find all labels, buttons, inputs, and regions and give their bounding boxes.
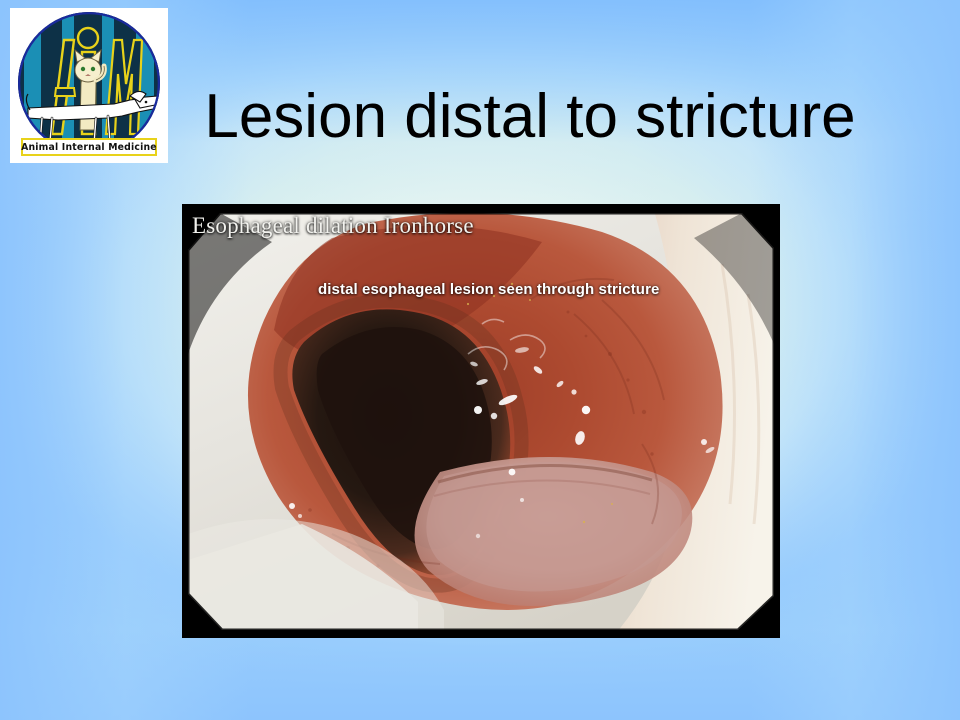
logo-banner-text: Animal Internal Medicine [21,142,157,153]
logo-artwork-icon [18,12,160,154]
page-title: Lesion distal to stricture [180,86,880,148]
endoscopy-photo: Esophageal dilation Ironhorse distal eso… [182,204,780,638]
logo-disc [18,12,160,154]
photo-caption-top: Esophageal dilation Ironhorse [192,213,474,239]
logo-banner: Animal Internal Medicine [21,138,157,156]
endoscopic-image [182,204,780,638]
slide: Animal Internal Medicine Lesion distal t… [0,0,960,720]
aim-logo: Animal Internal Medicine [10,8,168,163]
photo-caption-overlay: distal esophageal lesion seen through st… [318,281,659,298]
